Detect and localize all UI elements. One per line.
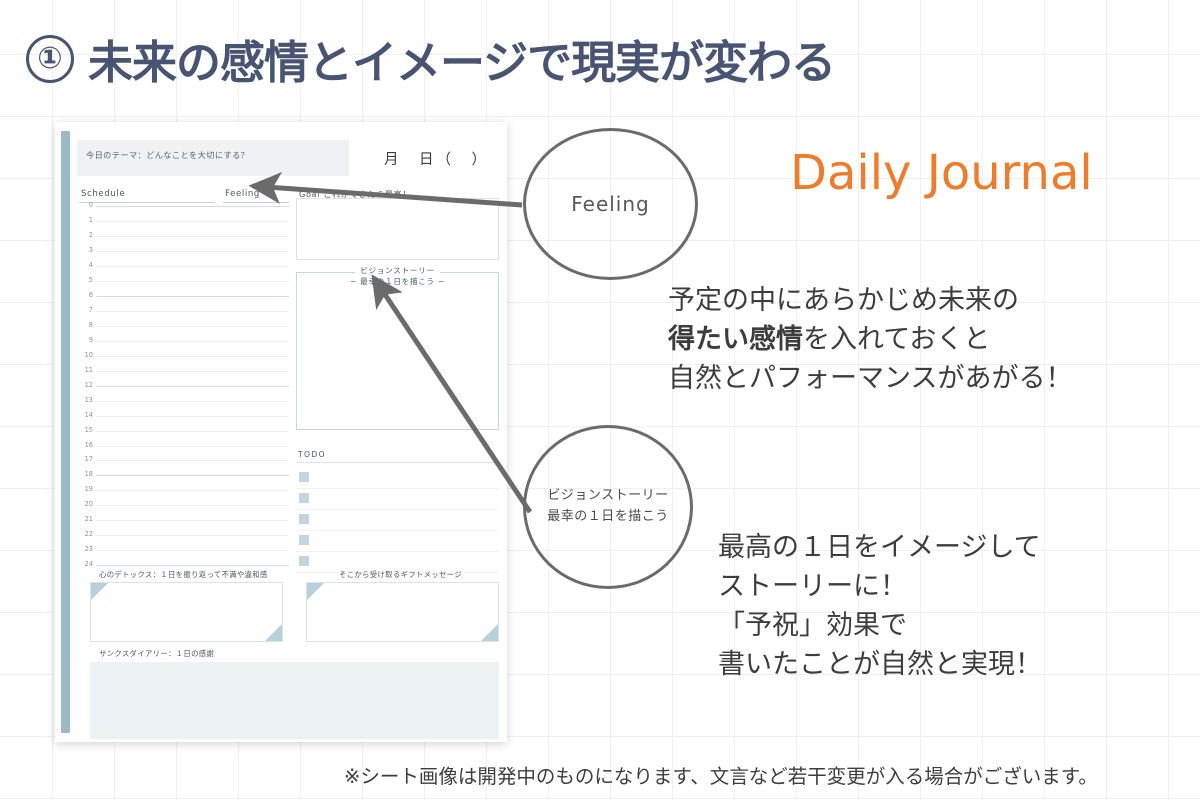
todo-item[interactable] <box>296 489 499 510</box>
goal-input-box[interactable] <box>296 198 499 260</box>
schedule-hour-label: 23 <box>77 545 93 553</box>
schedule-row-line <box>96 520 289 521</box>
schedule-hour-label: 4 <box>77 261 93 269</box>
schedule-row[interactable]: 11 <box>77 371 289 372</box>
schedule-hour-label: 3 <box>77 246 93 254</box>
detox-input-box[interactable] <box>90 582 283 642</box>
todo-item[interactable] <box>296 510 499 531</box>
schedule-row[interactable]: 22 <box>77 535 289 536</box>
todo-list <box>296 468 499 573</box>
schedule-grid[interactable]: 0123456789101112131415161718192021222324 <box>77 206 289 572</box>
schedule-row-line <box>96 356 289 357</box>
checkbox-icon[interactable] <box>299 535 309 545</box>
headline-number: ① <box>37 44 62 74</box>
schedule-hour-label: 1 <box>77 216 93 224</box>
schedule-hour-label: 8 <box>77 321 93 329</box>
callout-feeling-label: Feeling <box>571 192 650 216</box>
schedule-hour-label: 0 <box>77 201 93 209</box>
schedule-row-line <box>96 505 289 506</box>
schedule-hour-label: 15 <box>77 426 93 434</box>
checkbox-icon[interactable] <box>299 493 309 503</box>
schedule-row-line <box>96 236 289 237</box>
checkbox-icon[interactable] <box>299 514 309 524</box>
checkbox-icon[interactable] <box>299 472 309 482</box>
page-headline: ① 未来の感情とイメージで現実が変わる <box>26 26 835 91</box>
daily-journal-sheet: 今日のテーマ：どんなことを大切にする？ 月 日（ ） Schedule Feel… <box>55 122 507 742</box>
schedule-hour-label: 12 <box>77 381 93 389</box>
schedule-row-line <box>96 475 289 476</box>
vision-story-box[interactable] <box>296 272 499 430</box>
schedule-header-rule <box>79 202 215 203</box>
schedule-hour-label: 5 <box>77 276 93 284</box>
thanks-diary-caption: サンクスダイアリー：１日の感謝 <box>99 648 214 659</box>
schedule-row[interactable]: 5 <box>77 281 289 282</box>
schedule-row-line <box>96 460 289 461</box>
callout-circle-vision-story: ビジョンストーリー 最幸の１日を描こう <box>523 425 693 589</box>
schedule-row-line <box>96 206 289 207</box>
schedule-row-line <box>96 281 289 282</box>
schedule-row[interactable]: 8 <box>77 326 289 327</box>
vision-story-subtitle: − 最幸の１日を描こう − <box>350 277 445 286</box>
schedule-row-line <box>96 565 289 566</box>
copy-1-line-3: 自然とパフォーマンスがあがる！ <box>668 363 1072 394</box>
schedule-row[interactable]: 4 <box>77 266 289 267</box>
theme-prompt-field[interactable]: 今日のテーマ：どんなことを大切にする？ <box>77 140 349 176</box>
headline-number-badge: ① <box>26 35 74 83</box>
date-line[interactable]: 月 日（ ） <box>384 148 489 169</box>
schedule-row[interactable]: 19 <box>77 490 289 491</box>
vision-story-title: ビジョンストーリー <box>360 266 435 275</box>
schedule-hour-label: 19 <box>77 485 93 493</box>
todo-rule <box>296 462 499 463</box>
schedule-hour-label: 10 <box>77 351 93 359</box>
schedule-row-line <box>96 296 289 297</box>
theme-prompt-label: 今日のテーマ：どんなことを大切にする？ <box>86 149 249 161</box>
schedule-row-line <box>96 371 289 372</box>
schedule-hour-label: 6 <box>77 291 93 299</box>
schedule-row-line <box>96 266 289 267</box>
schedule-row[interactable]: 3 <box>77 251 289 252</box>
schedule-row[interactable]: 6 <box>77 296 289 297</box>
schedule-row-line <box>96 341 289 342</box>
todo-item[interactable] <box>296 531 499 552</box>
corner-triangle-icon <box>307 583 324 600</box>
schedule-row[interactable]: 12 <box>77 386 289 387</box>
copy-2-line-2: ストーリーに！ <box>718 571 907 602</box>
schedule-row-line <box>96 251 289 252</box>
schedule-row-line <box>96 326 289 327</box>
schedule-row[interactable]: 17 <box>77 460 289 461</box>
copy-2-line-4: 書いたことが自然と実現！ <box>718 649 1042 680</box>
schedule-hour-label: 20 <box>77 500 93 508</box>
corner-triangle-icon <box>265 624 282 641</box>
schedule-row[interactable]: 21 <box>77 520 289 521</box>
corner-triangle-icon <box>91 583 108 600</box>
schedule-row-line <box>96 550 289 551</box>
copy-block-1: 予定の中にあらかじめ未来の 得たい感情を入れておくと 自然とパフォーマンスがあが… <box>668 281 1072 398</box>
schedule-row[interactable]: 18 <box>77 475 289 476</box>
schedule-hour-label: 24 <box>77 560 93 568</box>
schedule-hour-label: 16 <box>77 441 93 449</box>
schedule-hour-label: 17 <box>77 455 93 463</box>
gift-input-box[interactable] <box>306 582 499 642</box>
schedule-row-line <box>96 431 289 432</box>
schedule-row[interactable]: 7 <box>77 311 289 312</box>
schedule-hour-label: 14 <box>77 411 93 419</box>
schedule-row-line <box>96 311 289 312</box>
corner-triangle-icon <box>481 624 498 641</box>
detox-caption: 心のデトックス：１日を振り返って不満や違和感 <box>99 569 268 580</box>
schedule-row-line <box>96 386 289 387</box>
copy-1-line-1: 予定の中にあらかじめ未来の <box>668 285 1019 316</box>
schedule-hour-label: 22 <box>77 530 93 538</box>
schedule-row-line <box>96 446 289 447</box>
callout-vision-line1: ビジョンストーリー <box>547 488 668 503</box>
schedule-row[interactable]: 16 <box>77 446 289 447</box>
schedule-hour-label: 13 <box>77 396 93 404</box>
todo-item[interactable] <box>296 468 499 489</box>
checkbox-icon[interactable] <box>299 556 309 566</box>
gift-caption: そこから受け取るギフトメッセージ <box>339 569 462 580</box>
schedule-row[interactable]: 24 <box>77 565 289 566</box>
footer-disclaimer: ※シート画像は開発中のものになります、文言など若干変更が入る場合がございます。 <box>344 760 1098 789</box>
schedule-row-line <box>96 490 289 491</box>
callout-circle-feeling: Feeling <box>523 128 698 280</box>
copy-2-line-1: 最高の１日をイメージして <box>718 532 1041 563</box>
headline-text: 未来の感情とイメージで現実が変わる <box>88 26 835 91</box>
feeling-header-rule <box>223 202 289 203</box>
callout-vision-line2: 最幸の１日を描こう <box>547 509 669 524</box>
copy-1-line-2-rest: を入れておくと <box>803 324 990 355</box>
schedule-hour-label: 9 <box>77 336 93 344</box>
copy-block-2: 最高の１日をイメージして ストーリーに！ 「予祝」効果で 書いたことが自然と実現… <box>718 528 1042 685</box>
schedule-row[interactable]: 9 <box>77 341 289 342</box>
vision-story-caption: ビジョンストーリー − 最幸の１日を描こう − <box>296 265 499 287</box>
schedule-row[interactable]: 10 <box>77 356 289 357</box>
schedule-row[interactable]: 2 <box>77 236 289 237</box>
callout-vision-label: ビジョンストーリー 最幸の１日を描こう <box>547 486 669 528</box>
schedule-row-line <box>96 221 289 222</box>
schedule-column-header: Schedule <box>81 189 125 199</box>
schedule-row[interactable]: 0 <box>77 206 289 207</box>
schedule-row[interactable]: 20 <box>77 505 289 506</box>
schedule-hour-label: 21 <box>77 515 93 523</box>
schedule-row-line <box>96 401 289 402</box>
schedule-row[interactable]: 1 <box>77 221 289 222</box>
copy-2-line-3: 「予祝」効果で <box>718 610 907 641</box>
thanks-diary-input-box[interactable] <box>90 662 499 739</box>
brand-title: Daily Journal <box>790 145 1093 201</box>
sheet-spine-accent <box>61 131 70 733</box>
schedule-row-line <box>96 535 289 536</box>
schedule-row-line <box>96 416 289 417</box>
todo-heading: TODO <box>298 450 326 459</box>
schedule-row[interactable]: 14 <box>77 416 289 417</box>
schedule-row[interactable]: 13 <box>77 401 289 402</box>
schedule-hour-label: 2 <box>77 231 93 239</box>
schedule-hour-label: 11 <box>77 366 93 374</box>
schedule-row[interactable]: 15 <box>77 431 289 432</box>
copy-1-bold: 得たい感情 <box>668 324 803 355</box>
schedule-hour-label: 7 <box>77 306 93 314</box>
schedule-row[interactable]: 23 <box>77 550 289 551</box>
schedule-hour-label: 18 <box>77 470 93 478</box>
feeling-column-header: Feeling <box>225 189 260 199</box>
